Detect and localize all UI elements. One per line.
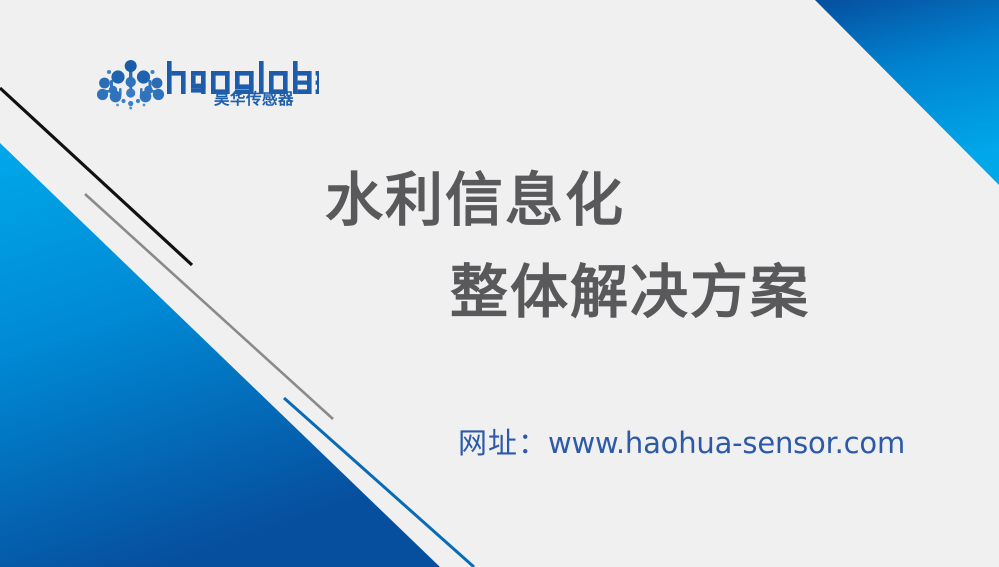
haoglobe-network-dots-icon [97, 60, 165, 110]
website-label: 网址： [458, 426, 548, 460]
title-slide: 昊华传感器 水利信息化 整体解决方案 网址：www.haohua-sensor.… [0, 0, 999, 567]
company-logo [97, 58, 327, 118]
website-url[interactable]: www.haohua-sensor.com [548, 426, 905, 460]
website-line: 网址：www.haohua-sensor.com [458, 420, 905, 462]
logo-chinese-name: 昊华传感器 [172, 92, 294, 108]
